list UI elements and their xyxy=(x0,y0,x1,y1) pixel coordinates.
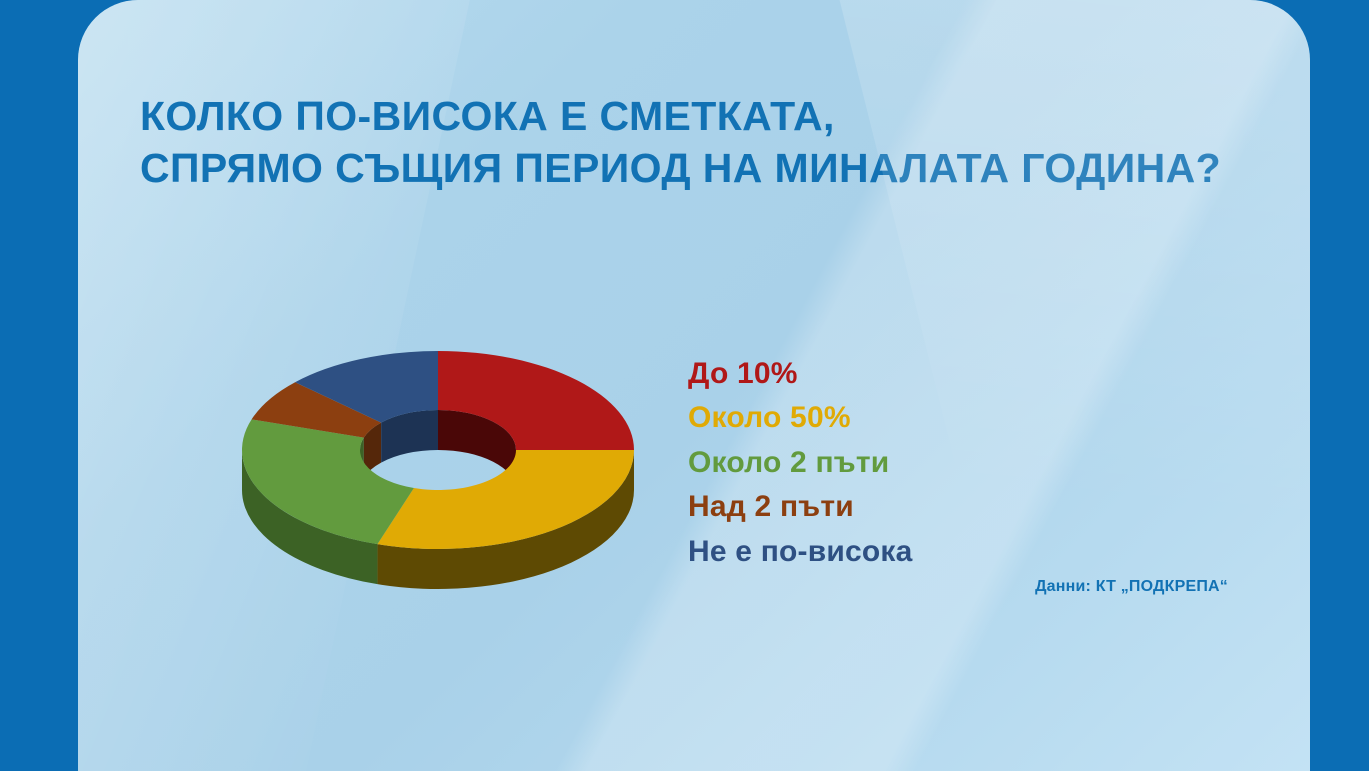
legend-label-2: Около 2 пъти xyxy=(688,446,889,479)
legend-label-0: До 10% xyxy=(688,357,798,390)
legend-label-3: Над 2 пъти xyxy=(688,490,854,523)
infographic-stage: КОЛКО ПО-ВИСОКА Е СМЕТКАТА, СПРЯМО СЪЩИЯ… xyxy=(0,0,1369,771)
legend-item-2[interactable]: Около 2 пъти xyxy=(688,441,1108,485)
donut-chart-svg xyxy=(218,318,658,608)
donut-chart xyxy=(218,318,658,608)
data-source-note: Данни: КТ „ПОДКРЕПА“ xyxy=(688,578,1228,596)
page-title: КОЛКО ПО-ВИСОКА Е СМЕТКАТА, СПРЯМО СЪЩИЯ… xyxy=(140,90,1260,195)
legend-item-1[interactable]: Около 50% xyxy=(688,396,1108,440)
legend-label-1: Около 50% xyxy=(688,401,851,434)
legend-label-4: Не е по-висока xyxy=(688,535,913,568)
legend-item-3[interactable]: Над 2 пъти xyxy=(688,485,1108,529)
content-panel: КОЛКО ПО-ВИСОКА Е СМЕТКАТА, СПРЯМО СЪЩИЯ… xyxy=(78,0,1310,771)
legend-item-4[interactable]: Не е по-висока xyxy=(688,530,1108,574)
chart-legend: До 10% Около 50% Около 2 пъти Над 2 пъти… xyxy=(688,352,1108,574)
legend-item-0[interactable]: До 10% xyxy=(688,352,1108,396)
